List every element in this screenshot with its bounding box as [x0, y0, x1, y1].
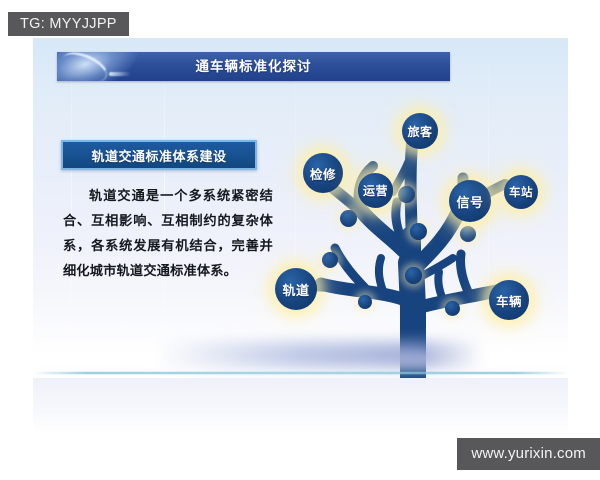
subtitle-text: 轨道交通标准体系建设 [91, 146, 226, 165]
tree-node-label: 车辆 [496, 291, 522, 310]
subtitle-box: 轨道交通标准体系建设 [61, 140, 257, 170]
watermark-label: www.yurixin.com [457, 438, 600, 470]
tag-badge: TG: MYYJJPP [8, 12, 129, 36]
tree-dot [445, 301, 460, 316]
tree-node-label: 旅客 [407, 123, 432, 140]
tree-dot [322, 252, 338, 268]
tree-node-label: 轨道 [282, 280, 309, 299]
tree-node-6: 车辆 [489, 280, 529, 320]
slide-footer-fade [33, 378, 568, 433]
tree-diagram: 旅客检修运营信号车站轨道车辆 [263, 58, 563, 388]
tree-node-1: 检修 [303, 153, 343, 193]
tree-dot [460, 226, 476, 242]
tree-node-3: 信号 [449, 180, 491, 222]
tree-node-label: 检修 [310, 164, 336, 183]
tree-dot [358, 295, 372, 309]
presentation-slide: 通车辆标准化探讨 轨道交通标准体系建设 轨道交通是一个多系统紧密结合、互相影响、… [33, 38, 568, 433]
tree-dot [410, 223, 427, 240]
tree-node-5: 轨道 [275, 268, 317, 310]
tree-node-0: 旅客 [402, 113, 438, 149]
tree-node-4: 车站 [504, 175, 538, 209]
tree-branches-graphic [263, 58, 563, 388]
tree-dot [405, 267, 422, 284]
body-paragraph: 轨道交通是一个多系统紧密结合、互相影响、互相制约的复杂体系，各系统发展有机结合，… [63, 183, 273, 283]
tree-node-label: 车站 [509, 184, 533, 200]
tree-node-label: 运营 [363, 182, 388, 199]
tree-dot [340, 210, 357, 227]
tree-dot [398, 186, 415, 203]
tree-node-label: 信号 [456, 192, 483, 211]
tree-node-2: 运营 [358, 173, 393, 208]
